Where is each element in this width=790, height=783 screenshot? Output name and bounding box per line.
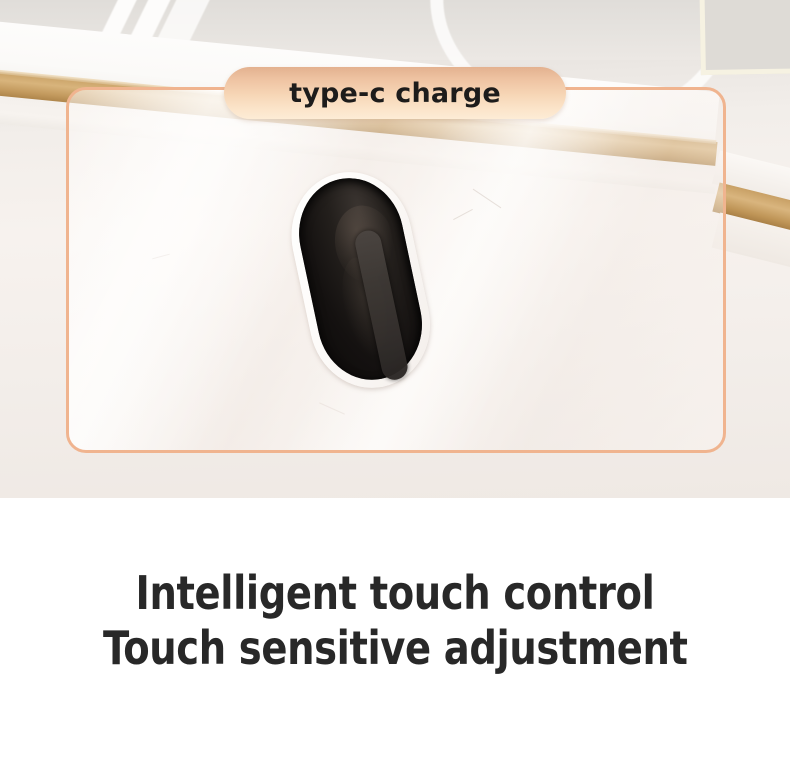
product-feature-banner: type-c charge Intelligent touch control …: [0, 0, 790, 783]
port-opening: [288, 168, 432, 389]
caption-block: Intelligent touch control Touch sensitiv…: [0, 498, 790, 783]
type-c-charge-badge: type-c charge: [224, 67, 566, 119]
type-c-charge-badge-label: type-c charge: [289, 80, 501, 107]
caption-line-2: Touch sensitive adjustment: [103, 621, 688, 675]
product-photo: type-c charge: [0, 0, 790, 498]
top-right-panel-frame: [699, 0, 790, 75]
caption-line-1: Intelligent touch control: [136, 566, 655, 620]
